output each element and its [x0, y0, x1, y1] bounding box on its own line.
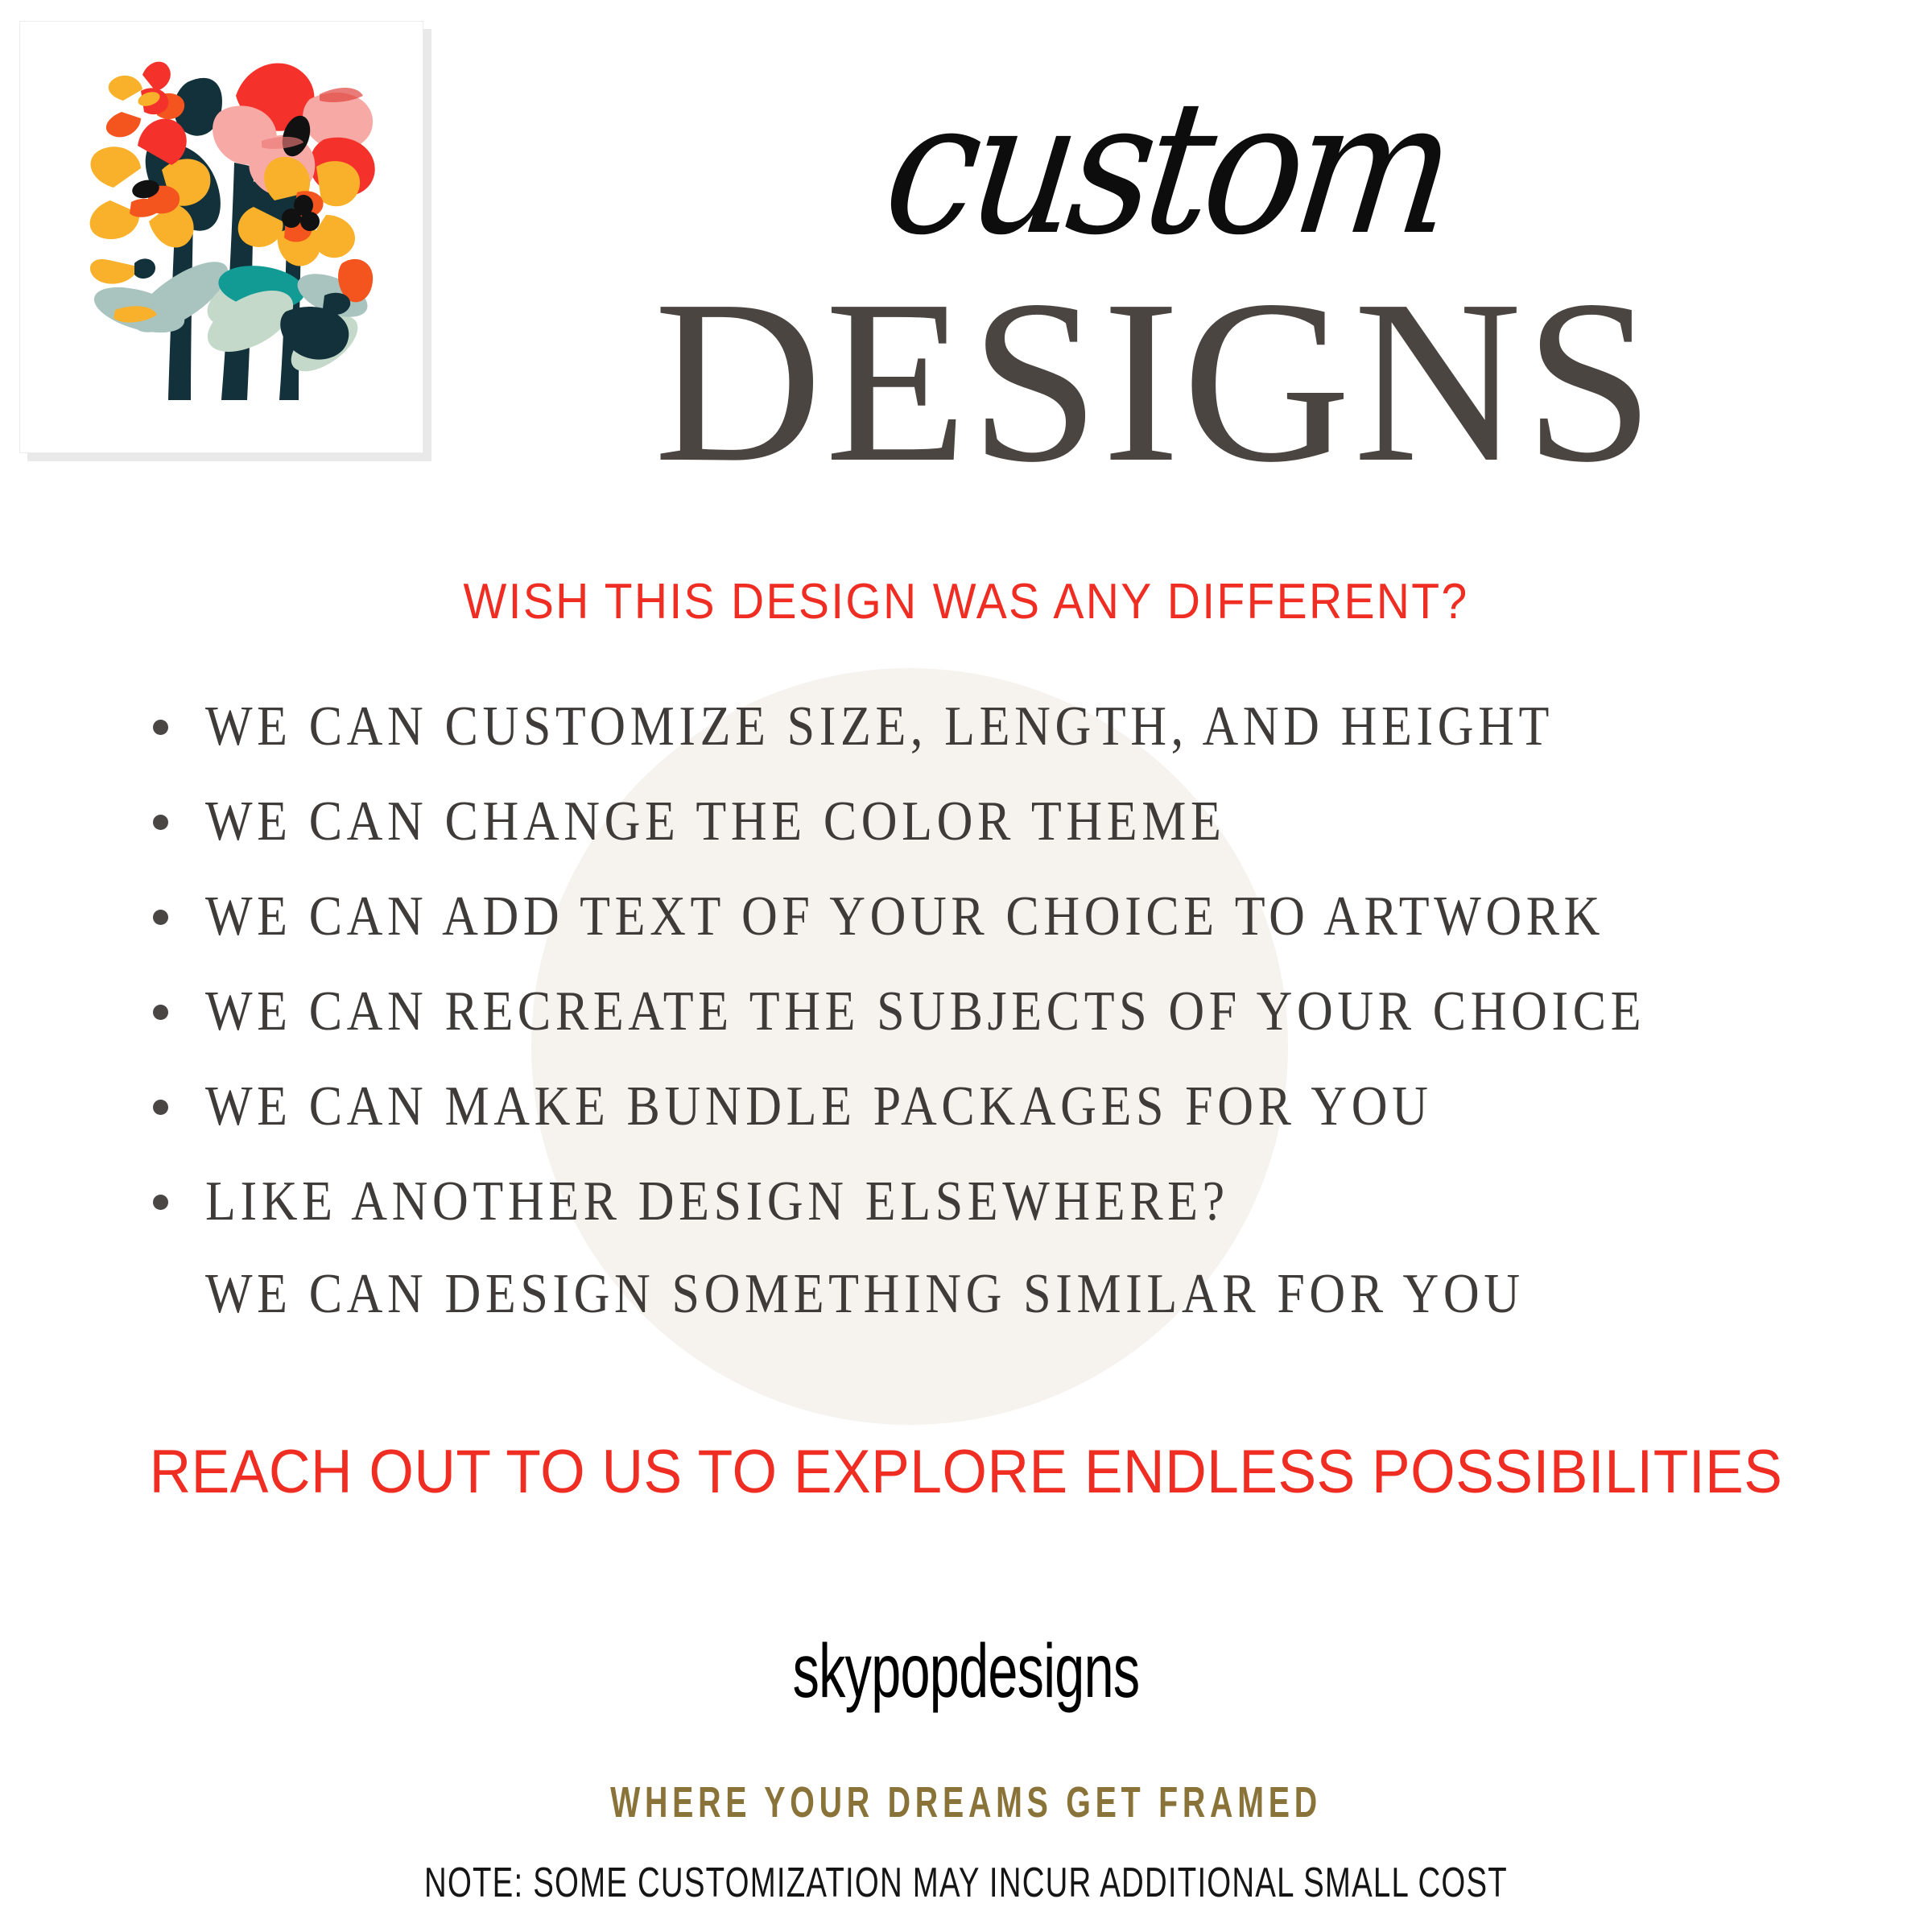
framed-floral-artwork [19, 21, 423, 453]
feature-label: WE CAN CHANGE THE COLOR THEME [205, 794, 1225, 849]
bullet-dot-icon [153, 910, 168, 925]
list-item: LIKE ANOTHER DESIGN ELSEWHERE? [153, 1174, 1843, 1269]
feature-list: WE CAN CUSTOMIZE SIZE, LENGTH, AND HEIGH… [153, 699, 1843, 1269]
headline-block: custom DESIGNS [419, 97, 1892, 493]
subtitle-question: WISH THIS DESIGN WAS ANY DIFFERENT? [77, 573, 1855, 630]
page-title: DESIGNS [419, 270, 1892, 493]
bullet-dot-icon [153, 1100, 168, 1115]
feature-label: WE CAN RECREATE THE SUBJECTS OF YOUR CHO… [205, 984, 1645, 1039]
brand-logo-text: skypopdesigns [290, 1628, 1642, 1715]
list-item: WE CAN CUSTOMIZE SIZE, LENGTH, AND HEIGH… [153, 699, 1843, 794]
feature-label: WE CAN MAKE BUNDLE PACKAGES FOR YOU [205, 1079, 1433, 1134]
feature-label: LIKE ANOTHER DESIGN ELSEWHERE? [205, 1174, 1229, 1229]
list-item: WE CAN MAKE BUNDLE PACKAGES FOR YOU [153, 1079, 1843, 1174]
feature-label: WE CAN ADD TEXT OF YOUR CHOICE TO ARTWOR… [205, 889, 1604, 944]
feature-continuation-label: WE CAN DESIGN SOMETHING SIMILAR FOR YOU [205, 1266, 1525, 1322]
list-item: WE CAN RECREATE THE SUBJECTS OF YOUR CHO… [153, 984, 1843, 1079]
bullet-dot-icon [153, 1005, 168, 1020]
bullet-dot-icon [153, 720, 168, 735]
brand-tagline: WHERE YOUR DREAMS GET FRAMED [174, 1778, 1758, 1828]
list-item: WE CAN CHANGE THE COLOR THEME [153, 794, 1843, 889]
call-to-action-text: REACH OUT TO US TO EXPLORE ENDLESS POSSI… [58, 1437, 1874, 1507]
bullet-dot-icon [153, 815, 168, 830]
feature-label: WE CAN CUSTOMIZE SIZE, LENGTH, AND HEIGH… [205, 699, 1554, 754]
list-item: WE CAN ADD TEXT OF YOUR CHOICE TO ARTWOR… [153, 889, 1843, 984]
floral-illustration [20, 22, 423, 452]
custom-script-word: custom [419, 76, 1914, 262]
bullet-dot-icon [153, 1195, 168, 1210]
footnote-note: NOTE: SOME CUSTOMIZATION MAY INCUR ADDIT… [193, 1860, 1739, 1907]
